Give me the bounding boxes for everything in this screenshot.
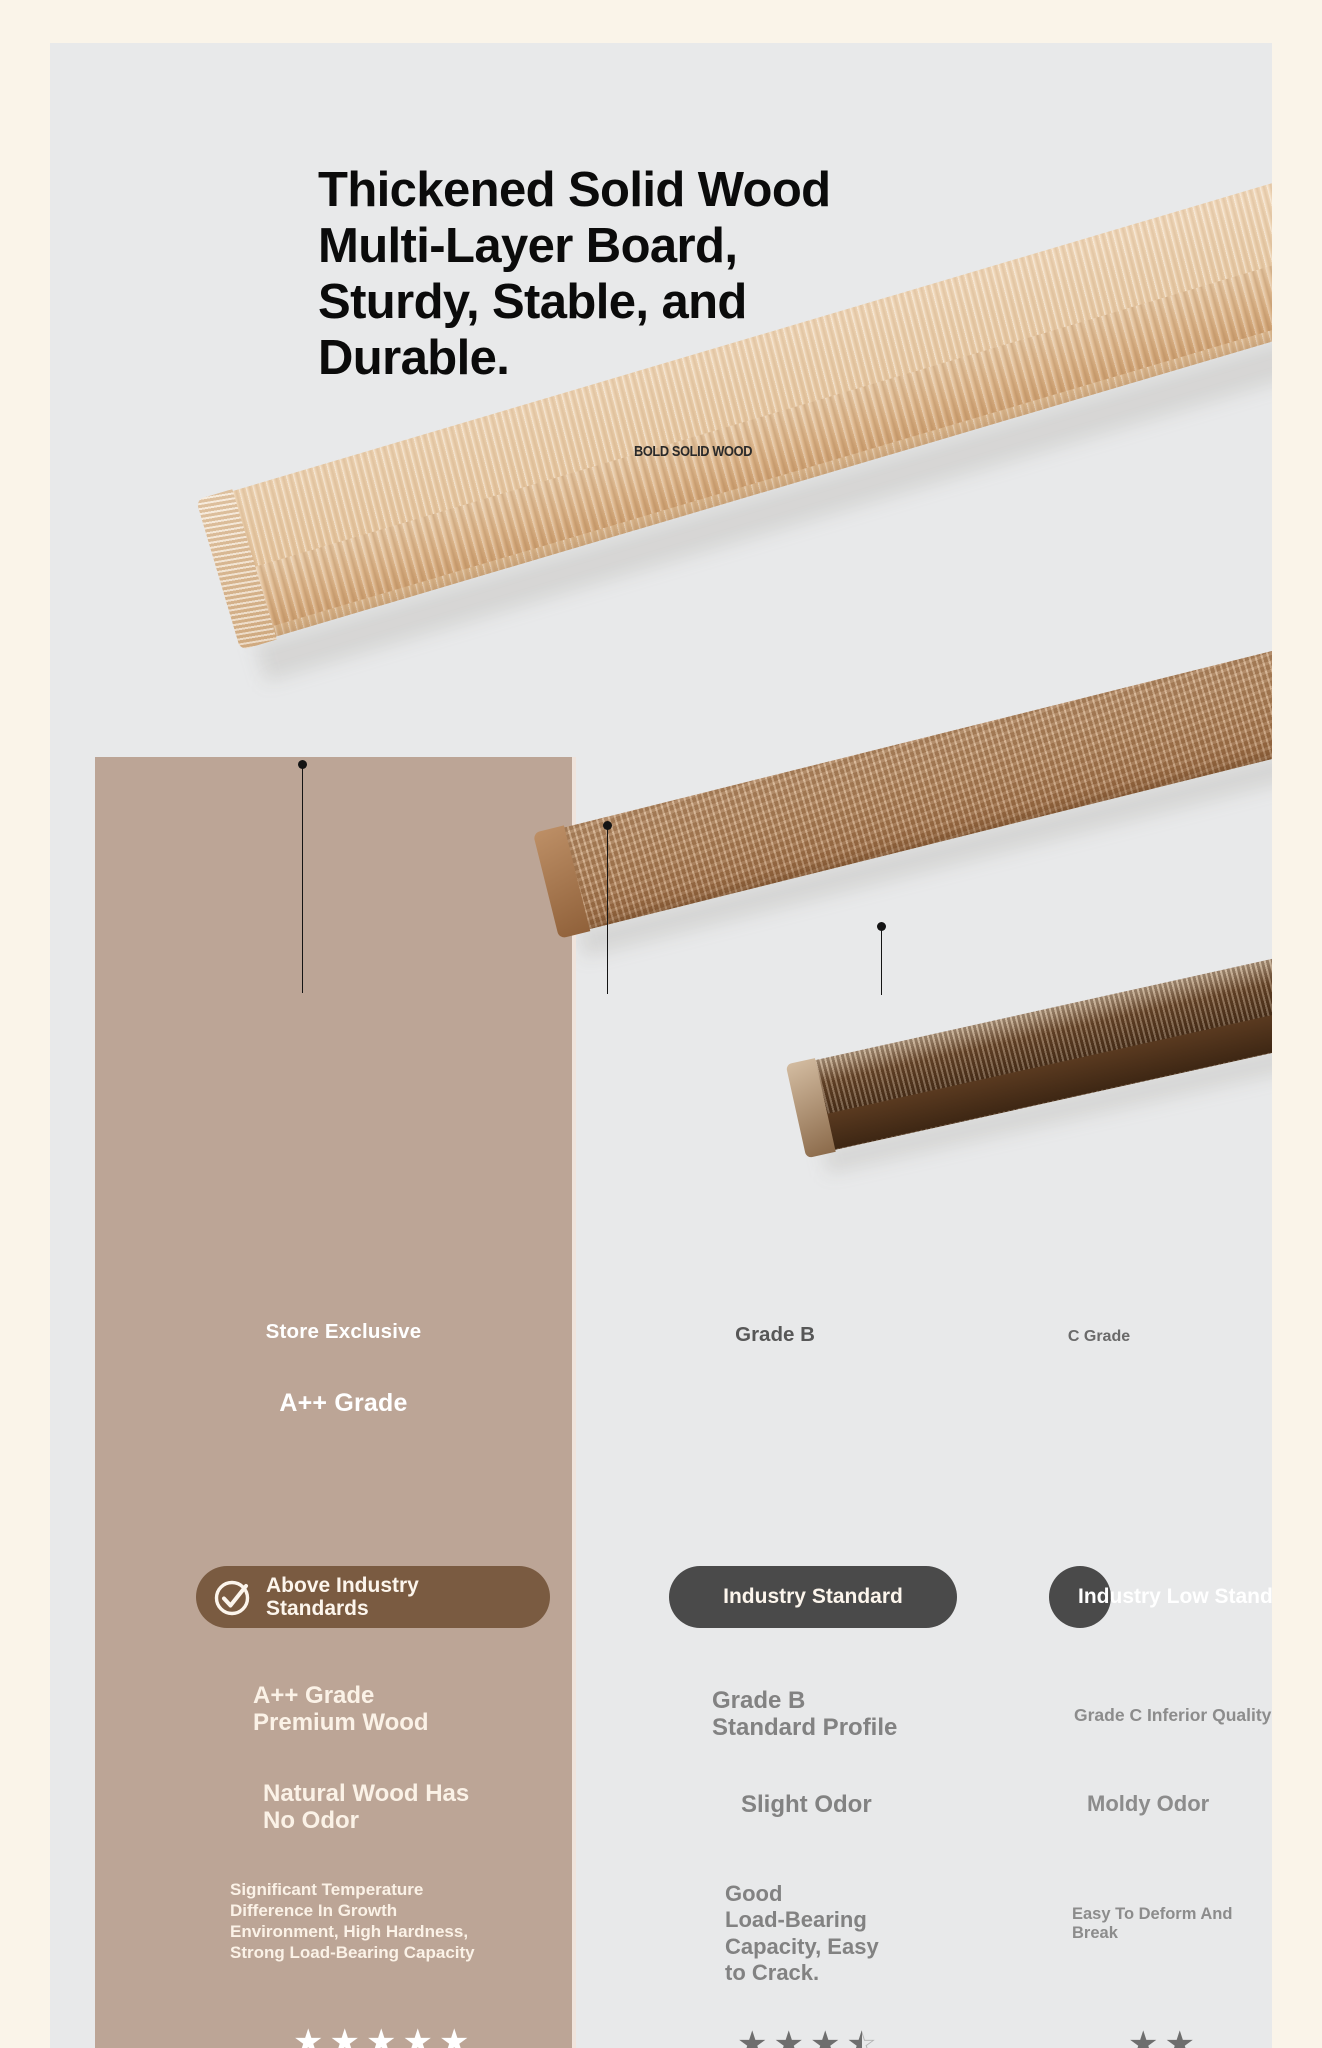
grade-label-c: C Grade xyxy=(1035,1328,1163,1346)
badge-industry-low-standard[interactable]: Industry Low Standard xyxy=(1049,1566,1272,1628)
pointer-line xyxy=(881,927,883,995)
highlight-panel-divider xyxy=(572,757,576,2048)
grade-label-store-exclusive: Store Exclusive xyxy=(246,1320,441,1344)
star-filled: ★ xyxy=(1128,2027,1158,2048)
feature-c-3: Easy To Deform And Break xyxy=(1072,1905,1272,1943)
pointer-line xyxy=(607,826,609,994)
rating-stars-grade-a: ★★★★★ xyxy=(293,2025,469,2048)
feature-a-1: A++ Grade Premium Wood xyxy=(253,1683,429,1737)
star-half: ☆★ xyxy=(846,2027,876,2048)
feature-c-1: Grade C Inferior Quality xyxy=(1074,1705,1271,1726)
feature-a-2: Natural Wood Has No Odor xyxy=(263,1781,469,1835)
rating-stars-grade-c: ★★ xyxy=(1128,2027,1195,2048)
feature-c-2: Moldy Odor xyxy=(1087,1791,1209,1817)
star-filled: ★ xyxy=(329,2025,359,2048)
badge-label: Industry Low Standard xyxy=(1078,1585,1272,1609)
badge-label: Above Industry Standards xyxy=(266,1574,419,1620)
feature-a-3: Significant Temperature Difference In Gr… xyxy=(230,1879,475,1963)
star-filled: ★ xyxy=(402,2025,432,2048)
badge-label: Industry Standard xyxy=(723,1585,903,1609)
badge-above-industry-standards[interactable]: Above Industry Standards xyxy=(196,1566,550,1628)
page-title: Thickened Solid Wood Multi-Layer Board, … xyxy=(318,163,998,386)
pointer-line xyxy=(302,765,304,993)
feature-b-1: Grade B Standard Profile xyxy=(712,1687,897,1742)
grade-label-a-plus-plus: A++ Grade xyxy=(246,1389,441,1418)
star-filled: ★ xyxy=(1164,2027,1194,2048)
star-filled: ★ xyxy=(439,2025,469,2048)
eyebrow-label: BOLD SOLID WOOD xyxy=(634,444,752,460)
badge-industry-standard[interactable]: Industry Standard xyxy=(669,1566,957,1628)
grade-b-plank-image xyxy=(535,564,1272,937)
star-filled: ★ xyxy=(293,2025,323,2048)
star-filled: ★ xyxy=(366,2025,396,2048)
rating-stars-grade-b: ★★★☆★ xyxy=(737,2027,877,2048)
product-infographic-card: Thickened Solid Wood Multi-Layer Board, … xyxy=(50,43,1272,2048)
star-half-fill: ★ xyxy=(846,2027,861,2048)
check-circle-icon xyxy=(212,1575,256,1619)
star-filled: ★ xyxy=(773,2027,803,2048)
grade-label-b: Grade B xyxy=(695,1323,855,1347)
feature-b-2: Slight Odor xyxy=(741,1791,872,1819)
feature-b-3: Good Load-Bearing Capacity, Easy to Crac… xyxy=(725,1881,879,1987)
star-filled: ★ xyxy=(810,2027,840,2048)
star-filled: ★ xyxy=(737,2027,767,2048)
